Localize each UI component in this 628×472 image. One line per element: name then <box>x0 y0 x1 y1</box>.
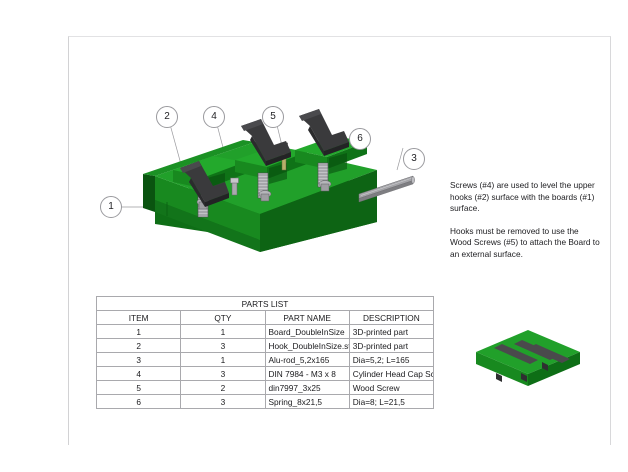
cell-qty: 3 <box>181 395 265 409</box>
table-row: 5 2 din7997_3x25 Wood Screw <box>97 381 434 395</box>
cell-qty: 2 <box>181 381 265 395</box>
cell-part-name: Hook_DoubleInSize.stl <box>265 339 349 353</box>
cell-qty: 3 <box>181 339 265 353</box>
parts-list-title: PARTS LIST <box>97 297 434 311</box>
note-spacer <box>450 215 602 226</box>
notes-block: Screws (#4) are used to level the upper … <box>450 180 602 261</box>
parts-list-title-row: PARTS LIST <box>97 297 434 311</box>
cell-description: Dia=5,2; L=165 <box>349 353 433 367</box>
balloon-6[interactable]: 6 <box>349 128 371 150</box>
cell-part-name: Alu-rod_5,2x165 <box>265 353 349 367</box>
cell-part-name: din7997_3x25 <box>265 381 349 395</box>
parts-list-header-row: ITEM QTY PART NAME DESCRIPTION <box>97 311 434 325</box>
cell-qty: 3 <box>181 367 265 381</box>
cell-item: 4 <box>97 367 181 381</box>
column-header-part-name: PART NAME <box>265 311 349 325</box>
screw-head-3 <box>319 181 331 191</box>
balloon-2[interactable]: 2 <box>156 106 178 128</box>
table-row: 1 1 Board_DoubleInSize 3D-printed part <box>97 325 434 339</box>
cell-item: 2 <box>97 339 181 353</box>
table-row: 6 3 Spring_8x21,5 Dia=8; L=21,5 <box>97 395 434 409</box>
column-header-item: ITEM <box>97 311 181 325</box>
cell-qty: 1 <box>181 353 265 367</box>
cell-description: Wood Screw <box>349 381 433 395</box>
cell-part-name: Board_DoubleInSize <box>265 325 349 339</box>
cell-item: 1 <box>97 325 181 339</box>
parts-list-table: PARTS LIST ITEM QTY PART NAME DESCRIPTIO… <box>96 296 434 409</box>
balloon-4[interactable]: 4 <box>203 106 225 128</box>
cell-qty: 1 <box>181 325 265 339</box>
cell-part-name: Spring_8x21,5 <box>265 395 349 409</box>
balloon-1[interactable]: 1 <box>100 196 122 218</box>
note-2: Hooks must be removed to use the Wood Sc… <box>450 226 602 261</box>
screw-head-2 <box>259 191 271 201</box>
table-row: 3 1 Alu-rod_5,2x165 Dia=5,2; L=165 <box>97 353 434 367</box>
cell-description: 3D-printed part <box>349 339 433 353</box>
table-row: 4 3 DIN 7984 - M3 x 8 Cylinder Head Cap … <box>97 367 434 381</box>
cell-description: Dia=8; L=21,5 <box>349 395 433 409</box>
cell-item: 5 <box>97 381 181 395</box>
note-1: Screws (#4) are used to level the upper … <box>450 180 602 215</box>
cell-item: 3 <box>97 353 181 367</box>
drawing-page: 1 2 3 4 5 6 Screws (#4) are used to leve… <box>0 0 628 472</box>
board-detail-view <box>466 322 590 398</box>
column-header-description: DESCRIPTION <box>349 311 433 325</box>
cell-description: Cylinder Head Cap Screw <box>349 367 433 381</box>
board-detail-part <box>476 330 580 386</box>
cell-description: 3D-printed part <box>349 325 433 339</box>
column-header-qty: QTY <box>181 311 265 325</box>
balloon-5[interactable]: 5 <box>262 106 284 128</box>
table-row: 2 3 Hook_DoubleInSize.stl 3D-printed par… <box>97 339 434 353</box>
balloon-3[interactable]: 3 <box>403 148 425 170</box>
cell-item: 6 <box>97 395 181 409</box>
cell-part-name: DIN 7984 - M3 x 8 <box>265 367 349 381</box>
